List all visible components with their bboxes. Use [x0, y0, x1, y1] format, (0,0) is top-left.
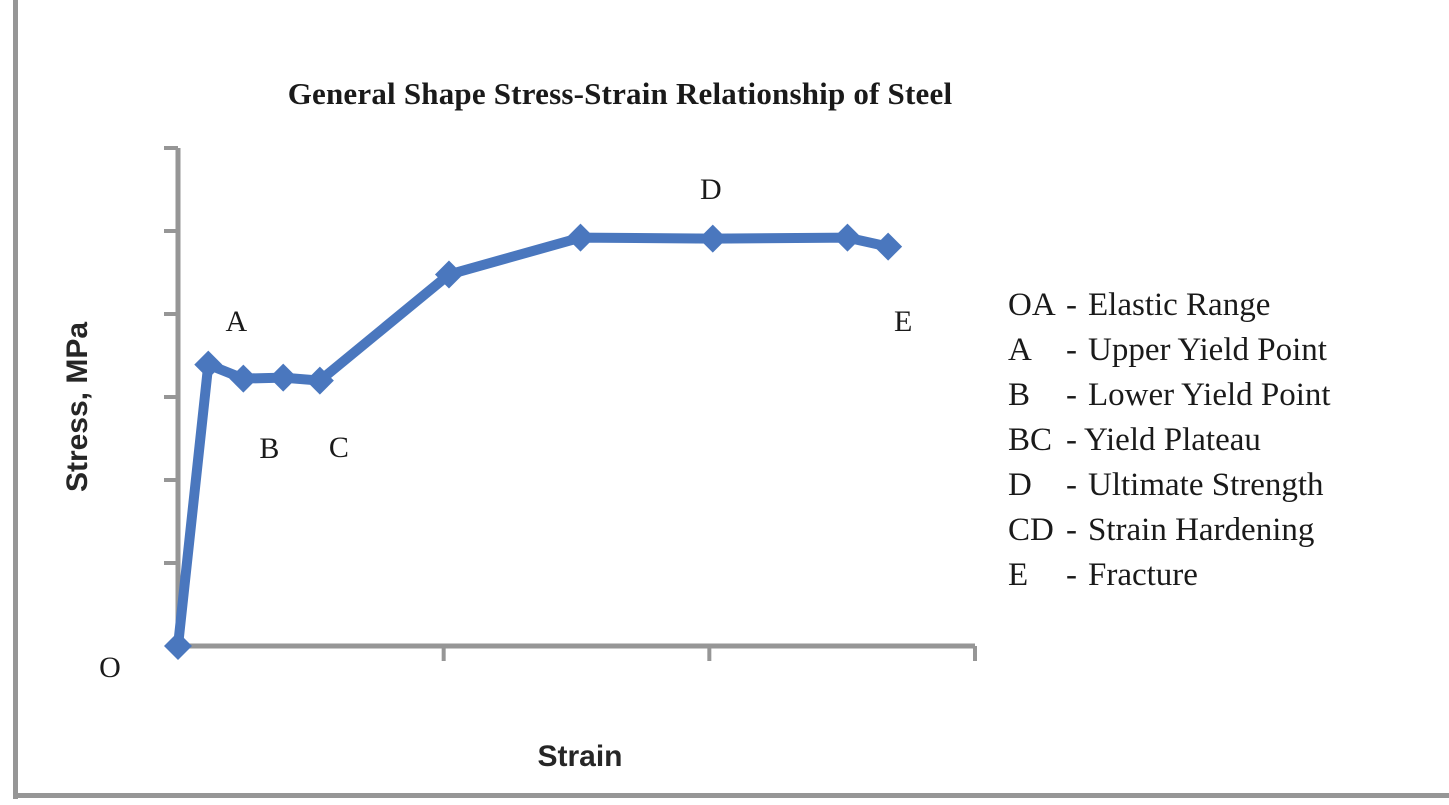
point-label-c: C — [329, 431, 349, 465]
legend-item-description: Strain Hardening — [1088, 508, 1314, 553]
legend-item: D-Ultimate Strength — [1008, 463, 1438, 508]
legend-item-description: Ultimate Strength — [1088, 463, 1324, 508]
legend-item: A-Upper Yield Point — [1008, 328, 1438, 373]
legend: OA-Elastic RangeA-Upper Yield PointB-Low… — [1008, 283, 1438, 598]
legend-item-key: D — [1008, 463, 1066, 508]
point-label-a: A — [225, 305, 247, 339]
series-marker — [269, 364, 297, 392]
point-label-d: D — [700, 173, 722, 207]
legend-item-dash: - — [1066, 283, 1088, 328]
legend-item-key: OA — [1008, 283, 1066, 328]
legend-item-key: B — [1008, 373, 1066, 418]
legend-item-key: BC — [1008, 418, 1066, 463]
series-marker — [874, 233, 902, 261]
legend-item-description: Yield Plateau — [1084, 418, 1261, 463]
legend-item-key: E — [1008, 553, 1066, 598]
legend-item: CD-Strain Hardening — [1008, 508, 1438, 553]
series-line-0 — [178, 238, 888, 646]
legend-item-key: CD — [1008, 508, 1066, 553]
legend-item: B-Lower Yield Point — [1008, 373, 1438, 418]
legend-item-dash: - — [1066, 508, 1088, 553]
series-marker — [229, 365, 257, 393]
axis-layer — [164, 148, 975, 661]
series-marker — [566, 224, 594, 252]
point-label-e: E — [894, 305, 912, 339]
legend-item-description: Elastic Range — [1088, 283, 1270, 328]
series-marker — [164, 632, 192, 660]
series-marker — [833, 224, 861, 252]
legend-item-key: A — [1008, 328, 1066, 373]
legend-item: BC-Yield Plateau — [1008, 418, 1438, 463]
series-marker — [194, 351, 222, 379]
legend-item-dash: - — [1066, 463, 1088, 508]
legend-item-description: Lower Yield Point — [1088, 373, 1331, 418]
legend-item-dash: - — [1066, 553, 1088, 598]
legend-item: OA-Elastic Range — [1008, 283, 1438, 328]
legend-item-description: Fracture — [1088, 553, 1198, 598]
point-label-o: O — [99, 651, 121, 685]
legend-item-description: Upper Yield Point — [1088, 328, 1327, 373]
legend-item: E-Fracture — [1008, 553, 1438, 598]
point-label-b: B — [259, 432, 279, 466]
series-marker — [699, 225, 727, 253]
legend-item-dash: - — [1066, 373, 1088, 418]
legend-item-dash: - — [1066, 328, 1088, 373]
legend-item-dash: - — [1066, 418, 1084, 463]
chart-page: General Shape Stress-Strain Relationship… — [0, 0, 1449, 805]
